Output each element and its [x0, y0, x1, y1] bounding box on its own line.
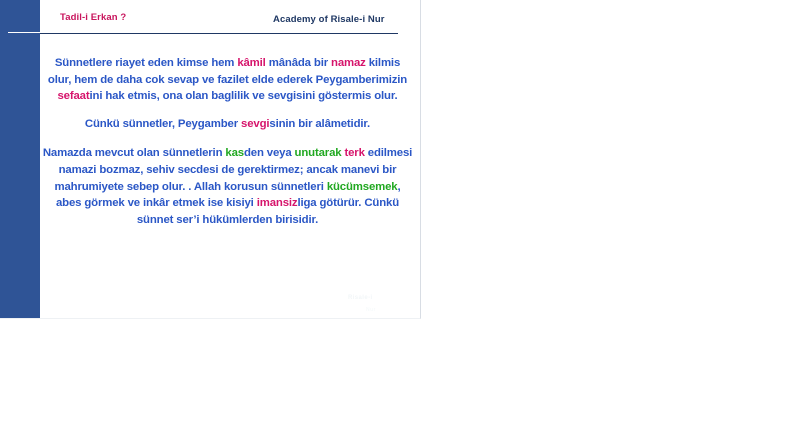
presentation-slide: Tadil-i Erkan ? Academy of Risale-i Nur …: [0, 0, 421, 319]
slide-body-text: Sünnetlere riayet eden kimse hem kâmil m…: [42, 55, 413, 228]
paragraph-3: Namazda mevcut olan sünnetlerin kasden v…: [42, 145, 413, 228]
sidebar-divider-line: [8, 32, 42, 33]
page-title: Tadil-i Erkan ?: [60, 12, 126, 23]
footer-watermark-secondary: Nur: [366, 307, 376, 313]
text-run: sevgi: [241, 118, 269, 130]
text-run: terk: [344, 147, 364, 159]
text-run: den veya: [244, 147, 295, 159]
text-run: kücümsemek: [327, 181, 398, 193]
header-divider-rule: [40, 33, 398, 34]
paragraph-1: Sünnetlere riayet eden kimse hem kâmil m…: [42, 55, 413, 105]
text-run: kas: [225, 147, 244, 159]
slide-header: Tadil-i Erkan ? Academy of Risale-i Nur: [40, 0, 421, 34]
text-run: unutarak: [295, 147, 342, 159]
text-run: sinin bir alâmetidir.: [269, 118, 370, 130]
text-run: sefaat: [57, 90, 89, 102]
text-run: Sünnetlere riayet eden kimse hem: [55, 57, 237, 69]
text-run: namaz: [331, 57, 366, 69]
academy-label: Academy of Risale-i Nur: [273, 14, 385, 25]
paragraph-2: Cünkü sünnetler, Peygamber sevgisinin bi…: [42, 116, 413, 133]
text-run: kâmil: [237, 57, 265, 69]
text-run: Namazda mevcut olan sünnetlerin: [43, 147, 226, 159]
footer-watermark: Risale-i: [348, 295, 373, 301]
slide-canvas: Tadil-i Erkan ? Academy of Risale-i Nur …: [0, 0, 800, 430]
text-run: imansiz: [257, 197, 298, 209]
text-run: ini hak etmis, ona olan baglilik ve sevg…: [90, 90, 398, 102]
text-run: mânâda bir: [266, 57, 331, 69]
text-run: Cünkü sünnetler, Peygamber: [85, 118, 241, 130]
sidebar-accent-band: [0, 0, 40, 318]
